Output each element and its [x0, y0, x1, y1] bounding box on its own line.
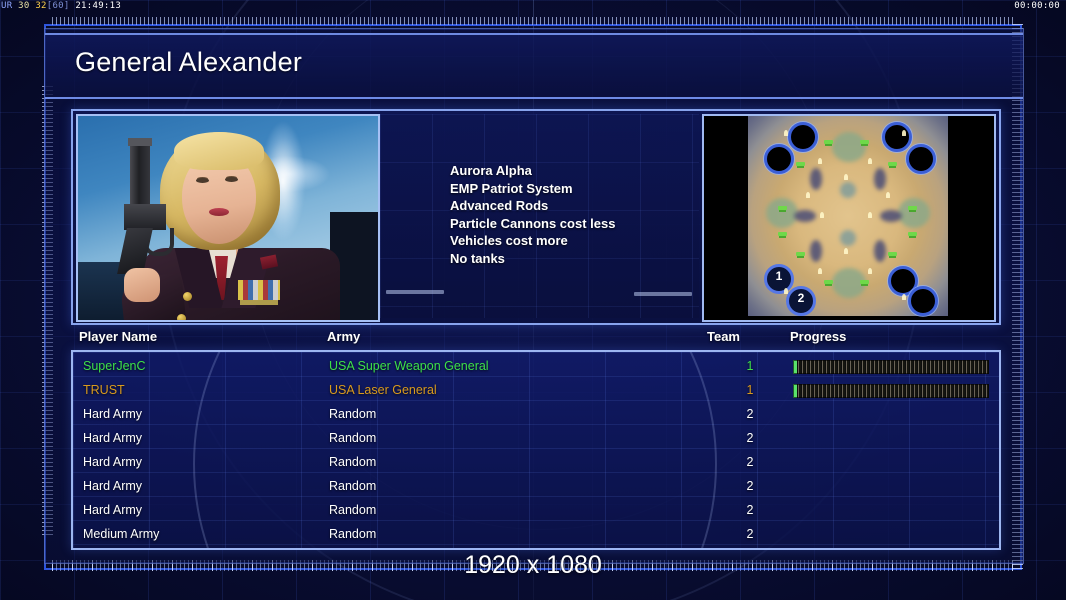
ability-item: No tanks — [450, 250, 615, 268]
map-start-position — [788, 122, 818, 152]
map-terrain-blob — [832, 132, 866, 162]
player-list-header: Player Name Army Team Progress — [71, 329, 997, 349]
map-start-position — [908, 286, 938, 316]
map-prop — [818, 268, 822, 274]
cell-army: USA Super Weapon General — [329, 359, 489, 373]
map-supply-marker — [796, 162, 805, 166]
map-supply-marker — [860, 140, 869, 144]
progress-bar — [793, 384, 989, 398]
cell-army: USA Laser General — [329, 383, 437, 397]
cell-team: 1 — [737, 383, 763, 397]
ability-item: Advanced Rods — [450, 197, 615, 215]
map-prop — [886, 192, 890, 198]
cell-player-name: Hard Army — [83, 455, 142, 469]
portrait-eye-left — [196, 178, 209, 183]
cell-progress — [793, 384, 989, 398]
session-time: 21:49:13 — [75, 1, 121, 11]
map-terrain-blob — [840, 182, 856, 198]
map-start-position — [764, 144, 794, 174]
map-preview[interactable]: 1 2 — [702, 114, 996, 322]
abilities-list: Aurora Alpha EMP Patriot System Advanced… — [450, 162, 615, 267]
cell-team: 2 — [737, 455, 763, 469]
map-terrain-blob — [874, 168, 886, 190]
game-lobby-screen: UR 30 32[60] 21:49:13 00:00:00 General A… — [0, 0, 1066, 600]
title-bar: General Alexander — [45, 33, 1023, 99]
cell-player-name: Hard Army — [83, 479, 142, 493]
column-header-army: Army — [327, 329, 360, 344]
table-row[interactable]: Hard ArmyRandom2 — [73, 428, 999, 452]
map-terrain-blob — [880, 210, 902, 222]
fps-current: 30 — [18, 1, 29, 11]
map-prop — [844, 174, 848, 180]
cell-army: Random — [329, 431, 376, 445]
ability-item: Vehicles cost more — [450, 232, 615, 250]
cell-army: Random — [329, 407, 376, 421]
portrait-button-upper — [183, 292, 192, 301]
portrait-hair-front — [174, 132, 264, 170]
resolution-label: 1920 x 1080 — [0, 551, 1066, 580]
map-terrain-blob — [810, 240, 822, 262]
cell-team: 2 — [737, 479, 763, 493]
map-start-position — [882, 122, 912, 152]
fps-readout: UR 30 32[60] 21:49:13 — [1, 0, 121, 13]
game-clock: 00:00:00 — [1014, 0, 1060, 13]
map-supply-marker — [888, 162, 897, 166]
general-portrait — [76, 114, 380, 322]
map-prop — [820, 212, 824, 218]
cell-player-name: SuperJenC — [83, 359, 146, 373]
map-start-marker-2: 2 — [786, 286, 816, 316]
map-prop — [868, 212, 872, 218]
map-supply-marker — [908, 232, 917, 236]
cell-army: Random — [329, 455, 376, 469]
map-supply-marker — [778, 206, 787, 210]
cell-team: 1 — [737, 359, 763, 373]
map-terrain-blob — [810, 168, 822, 190]
map-supply-marker — [860, 280, 869, 284]
status-bar: UR 30 32[60] 21:49:13 00:00:00 — [0, 0, 1066, 13]
fps-cap: [60] — [47, 1, 70, 11]
map-prop — [844, 248, 848, 254]
cell-team: 2 — [737, 527, 763, 541]
cell-army: Random — [329, 527, 376, 541]
map-supply-marker — [908, 206, 917, 210]
map-prop — [784, 130, 788, 136]
map-terrain-blob — [840, 230, 856, 246]
page-title: General Alexander — [75, 47, 302, 78]
portrait-pistol-sight — [128, 138, 152, 146]
portrait-medal-ribbons — [238, 280, 280, 300]
portrait-lips — [209, 208, 229, 216]
map-prop — [902, 294, 906, 300]
cell-player-name: Hard Army — [83, 503, 142, 517]
map-prop — [868, 158, 872, 164]
portrait-eye-right — [225, 177, 238, 182]
table-row[interactable]: SuperJenCUSA Super Weapon General1 — [73, 356, 999, 380]
table-row[interactable]: Hard ArmyRandom2 — [73, 404, 999, 428]
fps-average: 32 — [35, 1, 46, 11]
table-row[interactable]: TRUSTUSA Laser General1 — [73, 380, 999, 404]
cell-army: Random — [329, 503, 376, 517]
map-prop — [902, 130, 906, 136]
ability-item: Aurora Alpha — [450, 162, 615, 180]
cell-army: Random — [329, 479, 376, 493]
map-image: 1 2 — [748, 116, 948, 316]
cell-player-name: Medium Army — [83, 527, 159, 541]
frame-top-edge — [44, 24, 1022, 26]
cell-team: 2 — [737, 503, 763, 517]
map-supply-marker — [778, 232, 787, 236]
general-abilities-panel: Aurora Alpha EMP Patriot System Advanced… — [380, 114, 699, 318]
table-row[interactable]: Hard ArmyRandom2 — [73, 500, 999, 524]
cell-player-name: TRUST — [83, 383, 125, 397]
map-supply-marker — [824, 140, 833, 144]
map-start-position — [906, 144, 936, 174]
ability-item: Particle Cannons cost less — [450, 215, 615, 233]
cell-player-name: Hard Army — [83, 431, 142, 445]
table-row[interactable]: Hard ArmyRandom2 — [73, 476, 999, 500]
portrait-pistol-barrel — [130, 144, 150, 212]
table-row[interactable]: Hard ArmyRandom2 — [73, 452, 999, 476]
ruler-top-horizontal — [52, 17, 1014, 25]
map-terrain-blob — [898, 198, 930, 228]
column-header-player-name: Player Name — [79, 329, 157, 344]
cell-team: 2 — [737, 431, 763, 445]
map-supply-marker — [824, 280, 833, 284]
map-supply-marker — [796, 252, 805, 256]
map-terrain-blob — [874, 240, 886, 262]
portrait-hand — [124, 268, 160, 302]
map-prop — [806, 192, 810, 198]
cell-player-name: Hard Army — [83, 407, 142, 421]
map-prop — [784, 288, 788, 294]
slider-track-right[interactable] — [634, 292, 692, 296]
ability-item: EMP Patriot System — [450, 180, 615, 198]
map-terrain-blob — [766, 198, 798, 228]
fps-label: UR — [1, 1, 12, 11]
player-list: SuperJenCUSA Super Weapon General1TRUSTU… — [71, 350, 1001, 550]
slider-track-left[interactable] — [386, 290, 444, 294]
map-prop — [818, 158, 822, 164]
progress-bar — [793, 360, 989, 374]
portrait-pistol-slide — [124, 204, 166, 230]
column-header-progress: Progress — [790, 329, 846, 344]
portrait-button-lower — [177, 314, 186, 322]
cell-progress — [793, 360, 989, 374]
map-terrain-blob — [794, 210, 816, 222]
column-header-team: Team — [707, 329, 740, 344]
map-prop — [868, 268, 872, 274]
table-row[interactable]: Medium ArmyRandom2 — [73, 524, 999, 548]
map-supply-marker — [888, 252, 897, 256]
cell-team: 2 — [737, 407, 763, 421]
lobby-panel: General Alexander — [44, 28, 1024, 564]
general-info-panel: Aurora Alpha EMP Patriot System Advanced… — [71, 109, 1001, 325]
